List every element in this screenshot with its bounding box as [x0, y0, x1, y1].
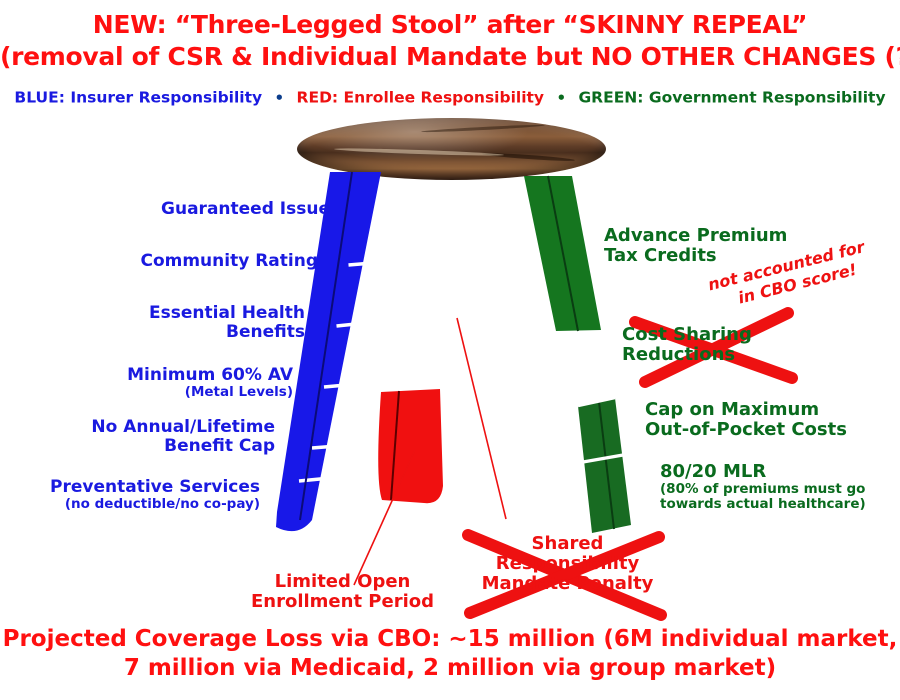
green-label-text-2: Tax Credits [604, 245, 717, 266]
blue-label-preventative-services: Preventative Services (no deductible/no … [10, 478, 260, 512]
stool-legs-graphic [0, 0, 900, 700]
blue-label-text: Guaranteed Issue [161, 199, 330, 219]
blue-label-minimum-av: Minimum 60% AV (Metal Levels) [35, 366, 293, 400]
blue-label-text: Minimum 60% AV [127, 365, 293, 385]
red-label-line-3: Mandate Penalty [482, 573, 654, 594]
red-label-line-1: Limited Open [275, 571, 411, 592]
green-label-text-2: Reductions [622, 344, 735, 365]
green-label-mlr: 80/20 MLR (80% of premiums must go towar… [660, 462, 866, 512]
blue-label-text: Essential Health [149, 303, 305, 323]
green-label-text: Advance Premium [604, 225, 787, 246]
red-label-limited-open-enrollment: Limited Open Enrollment Period [245, 572, 440, 612]
pointer-line-mandate [457, 318, 506, 519]
green-label-cap-out-of-pocket: Cap on Maximum Out-of-Pocket Costs [645, 400, 847, 440]
red-label-line-2: Enrollment Period [251, 591, 434, 612]
blue-label-sub: (no deductible/no co-pay) [10, 497, 260, 512]
blue-label-text-2: Benefit Cap [164, 436, 275, 456]
green-label-sub: (80% of premiums must go [660, 482, 866, 497]
red-label-shared-responsibility-mandate: Shared Responsibility Mandate Penalty [470, 534, 665, 594]
infographic-canvas: NEW: “Three-Legged Stool” after “SKINNY … [0, 0, 900, 700]
blue-label-no-benefit-cap: No Annual/Lifetime Benefit Cap [20, 418, 275, 456]
green-leg-upper [524, 176, 601, 331]
blue-label-text: Community Rating [140, 251, 318, 271]
green-label-text: Cap on Maximum [645, 399, 819, 420]
red-label-line-2: Responsibility [496, 553, 639, 574]
summary-line-1: Projected Coverage Loss via CBO: ~15 mil… [3, 626, 898, 652]
green-label-text: Cost Sharing [622, 324, 752, 345]
blue-label-guaranteed-issue: Guaranteed Issue [35, 200, 330, 219]
green-label-text-2: Out-of-Pocket Costs [645, 419, 847, 440]
blue-label-text-2: Benefits [226, 322, 305, 342]
blue-label-sub: (Metal Levels) [35, 385, 293, 400]
blue-label-text: No Annual/Lifetime [91, 417, 275, 437]
green-label-text: 80/20 MLR [660, 461, 766, 482]
green-label-advance-premium-tax-credits: Advance Premium Tax Credits [604, 226, 787, 266]
blue-label-community-rating: Community Rating [35, 252, 318, 271]
summary-line-2: 7 million via Medicaid, 2 million via gr… [124, 655, 776, 681]
green-label-cost-sharing-reductions: Cost Sharing Reductions [622, 325, 752, 365]
blue-label-essential-health-benefits: Essential Health Benefits [35, 304, 305, 342]
blue-label-text: Preventative Services [50, 477, 260, 497]
red-leg-stub [378, 389, 443, 503]
green-leg-lower-stub [578, 398, 631, 533]
red-label-line-1: Shared [532, 533, 604, 554]
blue-leg [276, 172, 381, 531]
green-label-sub-2: towards actual healthcare) [660, 497, 866, 512]
summary-projected-coverage-loss: Projected Coverage Loss via CBO: ~15 mil… [0, 625, 900, 683]
